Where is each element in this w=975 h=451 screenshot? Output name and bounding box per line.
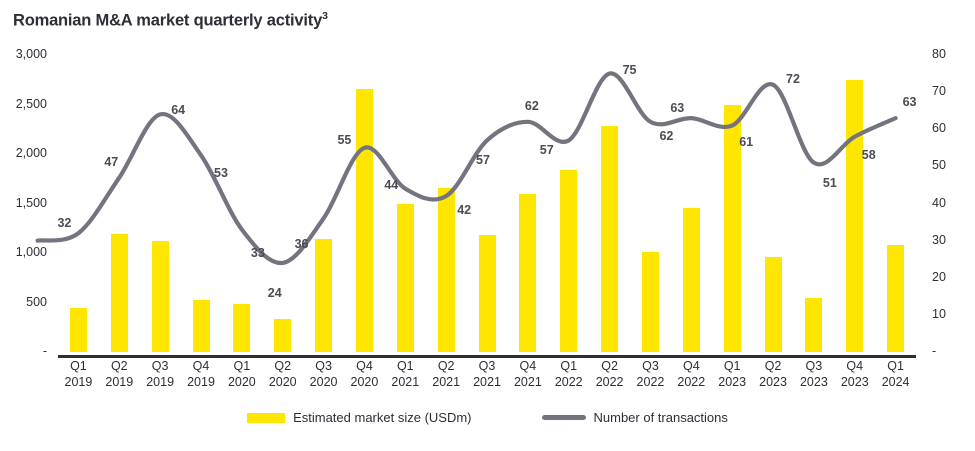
line-point-label: 72 [786, 72, 800, 86]
legend-label-estimated-market-size: Estimated market size (USDm) [293, 410, 471, 425]
x-axis-tick-label: Q22019 [99, 358, 140, 404]
x-axis-year: 2021 [385, 374, 426, 390]
line-point-label: 57 [476, 153, 490, 167]
chart-title-footnote-marker: 3 [322, 10, 328, 22]
y-axis-right-tick: 60 [932, 122, 946, 135]
line-point-label: 32 [57, 216, 71, 230]
x-axis-year: 2024 [875, 374, 916, 390]
y-axis-right: 8070605040302010- [920, 55, 970, 355]
y-axis-left-tick: 1,000 [16, 246, 47, 259]
x-axis-quarter: Q2 [753, 358, 794, 374]
x-axis-tick-label: Q22021 [426, 358, 467, 404]
x-axis-quarter: Q3 [793, 358, 834, 374]
x-axis-quarter: Q2 [262, 358, 303, 374]
x-axis-tick-label: Q12021 [385, 358, 426, 404]
x-axis-tick-label: Q42019 [181, 358, 222, 404]
y-axis-left-tick: 3,000 [16, 48, 47, 61]
line-point-label: 42 [457, 203, 471, 217]
x-axis-tick-label: Q12020 [221, 358, 262, 404]
x-axis-tick-label: Q22023 [753, 358, 794, 404]
y-axis-right-tick: 50 [932, 159, 946, 172]
plot-area: 3247645333243655444257625775626361725158… [58, 55, 916, 355]
y-axis-right-tick: 10 [932, 308, 946, 321]
x-axis-tick-label: Q12019 [58, 358, 99, 404]
x-axis-year: 2020 [303, 374, 344, 390]
x-axis-year: 2023 [793, 374, 834, 390]
x-axis-year: 2020 [262, 374, 303, 390]
x-axis-tick-label: Q42020 [344, 358, 385, 404]
y-axis-right-tick: 80 [932, 48, 946, 61]
x-axis-tick-label: Q22020 [262, 358, 303, 404]
line-point-label: 51 [823, 176, 837, 190]
chart-plot-frame: 3,0002,5002,0001,5001,000500- 8070605040… [0, 55, 975, 355]
chart-legend: Estimated market size (USDm) Number of t… [0, 410, 975, 425]
x-axis-year: 2023 [834, 374, 875, 390]
x-axis-year: 2019 [58, 374, 99, 390]
y-axis-right-tick: 40 [932, 197, 946, 210]
x-axis-year: 2023 [712, 374, 753, 390]
line-point-label: 62 [525, 99, 539, 113]
line-point-label: 63 [670, 101, 684, 115]
x-axis-quarter: Q2 [589, 358, 630, 374]
line-point-label: 62 [659, 129, 673, 143]
legend-item-number-of-transactions[interactable]: Number of transactions [542, 410, 728, 425]
x-axis-tick-label: Q12023 [712, 358, 753, 404]
line-point-label: 57 [540, 143, 554, 157]
x-axis-quarter: Q3 [630, 358, 671, 374]
x-axis-tick-label: Q12024 [875, 358, 916, 404]
x-axis-year: 2019 [140, 374, 181, 390]
x-axis-tick-label: Q32023 [793, 358, 834, 404]
x-axis-tick-label: Q32019 [140, 358, 181, 404]
x-axis-quarter: Q1 [221, 358, 262, 374]
line-point-label: 44 [384, 178, 398, 192]
line-swatch-icon [542, 415, 586, 420]
line-point-label: 36 [295, 237, 309, 251]
y-axis-right-tick: 70 [932, 85, 946, 98]
x-axis-quarter: Q2 [426, 358, 467, 374]
x-axis-quarter: Q1 [712, 358, 753, 374]
x-axis-quarter: Q1 [385, 358, 426, 374]
x-axis-quarter: Q3 [467, 358, 508, 374]
x-axis-year: 2021 [426, 374, 467, 390]
line-point-label: 75 [623, 63, 637, 77]
y-axis-left-tick: 500 [26, 296, 47, 309]
line-point-label: 58 [862, 148, 876, 162]
line-point-label: 53 [214, 166, 228, 180]
x-axis-year: 2023 [753, 374, 794, 390]
y-axis-left-tick: 2,500 [16, 98, 47, 111]
line-point-label: 63 [903, 95, 917, 109]
line-point-label: 61 [739, 135, 753, 149]
x-axis-tick-label: Q32020 [303, 358, 344, 404]
y-axis-right-tick: 30 [932, 234, 946, 247]
x-axis-tick-label: Q42021 [507, 358, 548, 404]
x-axis-tick-label: Q42022 [671, 358, 712, 404]
y-axis-right-tick: 20 [932, 271, 946, 284]
y-axis-left-tick: 2,000 [16, 147, 47, 160]
line-series-number-of-transactions [58, 55, 916, 352]
x-axis-year: 2021 [507, 374, 548, 390]
line-point-label: 33 [251, 246, 265, 260]
legend-label-number-of-transactions: Number of transactions [594, 410, 728, 425]
y-axis-right-tick: - [932, 345, 936, 358]
x-axis-tick-label: Q32021 [467, 358, 508, 404]
page-title: Romanian M&A market quarterly activity3 [13, 10, 328, 31]
x-axis-quarter: Q4 [671, 358, 712, 374]
x-axis-quarter: Q4 [507, 358, 548, 374]
x-axis-quarter: Q3 [140, 358, 181, 374]
x-axis-quarter: Q3 [303, 358, 344, 374]
x-axis-year: 2019 [181, 374, 222, 390]
x-axis-tick-label: Q42023 [834, 358, 875, 404]
x-axis-quarter: Q4 [344, 358, 385, 374]
x-axis-tick-label: Q22022 [589, 358, 630, 404]
x-axis-quarter: Q1 [58, 358, 99, 374]
x-axis-tick-label: Q32022 [630, 358, 671, 404]
line-point-label: 64 [171, 103, 185, 117]
x-axis-year: 2019 [99, 374, 140, 390]
transactions-line-path [38, 73, 896, 263]
line-point-label: 24 [268, 286, 282, 300]
x-axis-year: 2022 [589, 374, 630, 390]
x-axis-year: 2020 [221, 374, 262, 390]
legend-item-estimated-market-size[interactable]: Estimated market size (USDm) [247, 410, 471, 425]
chart-title-text: Romanian M&A market quarterly activity [13, 12, 322, 30]
x-axis-year: 2020 [344, 374, 385, 390]
x-axis-year: 2022 [671, 374, 712, 390]
x-axis-quarter: Q4 [834, 358, 875, 374]
x-axis-year: 2022 [548, 374, 589, 390]
x-axis-year: 2021 [467, 374, 508, 390]
y-axis-left-tick: 1,500 [16, 197, 47, 210]
bar-swatch-icon [247, 413, 285, 423]
y-axis-left-tick: - [43, 345, 47, 358]
x-axis-tick-label: Q12022 [548, 358, 589, 404]
x-axis-quarter: Q1 [875, 358, 916, 374]
x-axis-quarter: Q1 [548, 358, 589, 374]
x-axis-labels: Q12019Q22019Q32019Q42019Q12020Q22020Q320… [58, 358, 916, 404]
line-point-label: 55 [337, 133, 351, 147]
line-point-label: 47 [104, 155, 118, 169]
x-axis-quarter: Q2 [99, 358, 140, 374]
x-axis-year: 2022 [630, 374, 671, 390]
x-axis-quarter: Q4 [181, 358, 222, 374]
y-axis-left: 3,0002,5002,0001,5001,000500- [0, 55, 55, 355]
